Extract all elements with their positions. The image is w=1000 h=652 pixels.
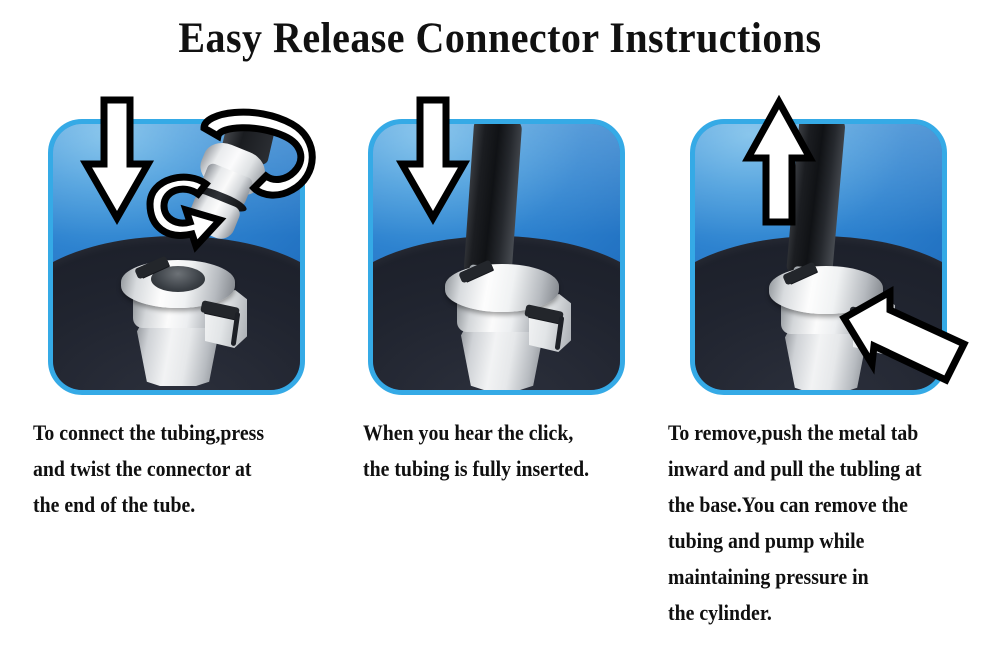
caption-step-2: When you hear the click, the tubing is f…: [363, 415, 589, 487]
caption-line: To remove,push the metal tab: [668, 415, 922, 451]
port-assembly-1: [119, 242, 249, 392]
down-arrow-icon: [398, 96, 468, 224]
push-arrow-icon: [838, 286, 970, 390]
caption-step-3: To remove,push the metal tab inward and …: [668, 415, 922, 631]
twist-arrow-icon: [140, 160, 232, 252]
caption-line: and twist the connector at: [33, 451, 264, 487]
port-assembly-2: [443, 246, 573, 395]
caption-line: To connect the tubing,press: [33, 415, 264, 451]
caption-line: tubing and pump while: [668, 523, 922, 559]
caption-line: maintaining pressure in: [668, 559, 922, 595]
instruction-sheet: Easy Release Connector Instructions: [0, 0, 1000, 652]
caption-line: the tubing is fully inserted.: [363, 451, 589, 487]
caption-line: the base.You can remove the: [668, 487, 922, 523]
caption-line: the end of the tube.: [33, 487, 264, 523]
up-arrow-icon: [744, 96, 814, 228]
caption-line: the cylinder.: [668, 595, 922, 631]
caption-step-1: To connect the tubing,press and twist th…: [33, 415, 264, 523]
caption-line: When you hear the click,: [363, 415, 589, 451]
caption-line: inward and pull the tubling at: [668, 451, 922, 487]
page-title: Easy Release Connector Instructions: [35, 14, 965, 63]
